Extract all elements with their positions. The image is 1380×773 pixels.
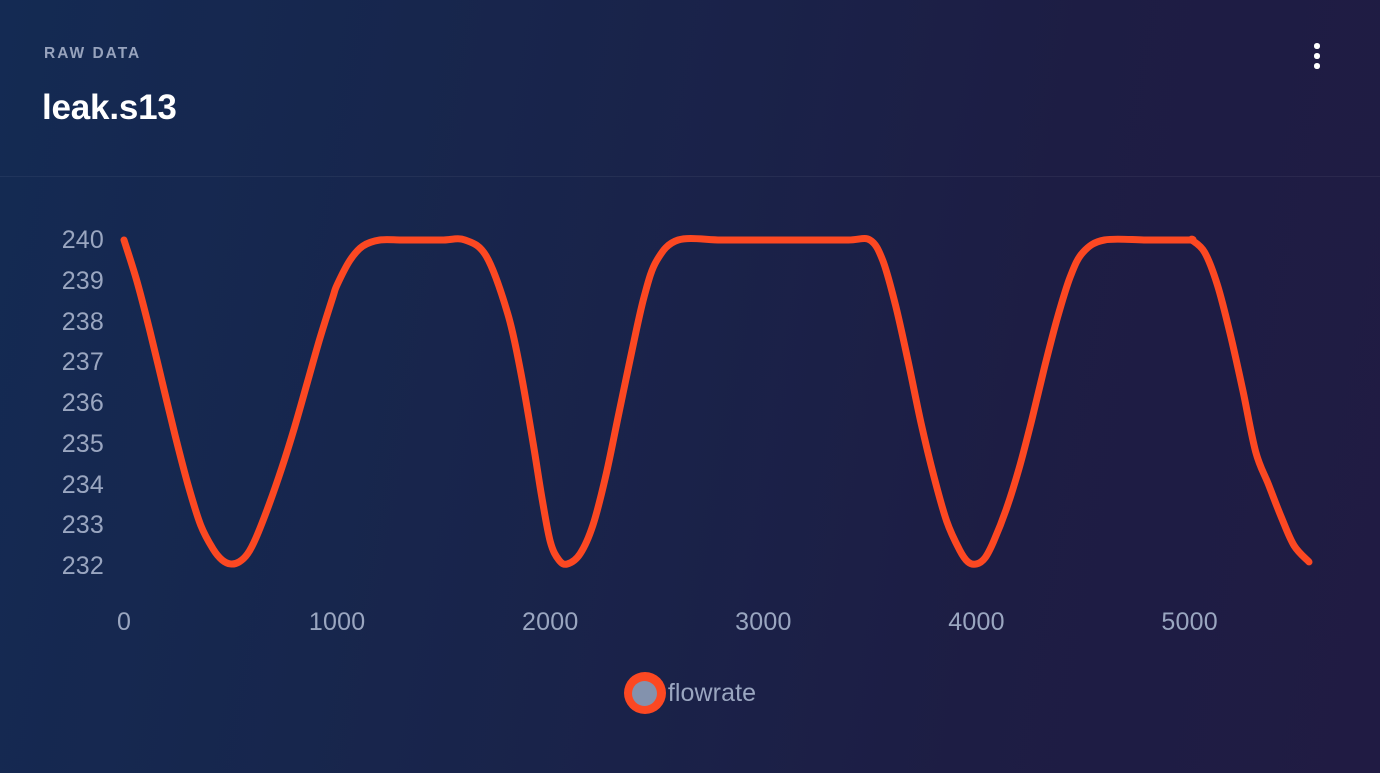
series-line-flowrate <box>124 238 1309 564</box>
x-axis-tick-4000: 4000 <box>907 610 1047 635</box>
x-axis-tick-2000: 2000 <box>480 610 620 635</box>
y-axis-tick-240: 240 <box>12 228 104 253</box>
y-axis-tick-233: 233 <box>12 513 104 538</box>
x-axis-tick-1000: 1000 <box>267 610 407 635</box>
card-header: RAW DATA leak.s13 <box>0 0 1380 177</box>
raw-data-chart-card: RAW DATA leak.s13 2402392382372362352342… <box>0 0 1380 773</box>
chart-legend: flowrate <box>0 672 1380 714</box>
kebab-dot-1 <box>1314 43 1320 49</box>
y-axis-tick-232: 232 <box>12 554 104 579</box>
y-axis-tick-237: 237 <box>12 350 104 375</box>
legend-marker-icon <box>624 672 666 714</box>
y-axis-tick-239: 239 <box>12 269 104 294</box>
x-axis-tick-3000: 3000 <box>693 610 833 635</box>
card-eyebrow-label: RAW DATA <box>44 43 141 65</box>
y-axis-tick-236: 236 <box>12 391 104 416</box>
kebab-dot-3 <box>1314 63 1320 69</box>
legend-item-label: flowrate <box>668 681 756 706</box>
y-axis-tick-234: 234 <box>12 473 104 498</box>
kebab-dot-2 <box>1314 53 1320 59</box>
x-axis-tick-5000: 5000 <box>1120 610 1260 635</box>
page-title: leak.s13 <box>42 85 177 131</box>
legend-item-flowrate[interactable]: flowrate <box>624 672 756 714</box>
y-axis-tick-238: 238 <box>12 310 104 335</box>
legend-marker-inner <box>632 681 657 706</box>
x-axis-tick-0: 0 <box>54 610 194 635</box>
kebab-menu-icon[interactable] <box>1302 36 1332 76</box>
y-axis-tick-235: 235 <box>12 432 104 457</box>
